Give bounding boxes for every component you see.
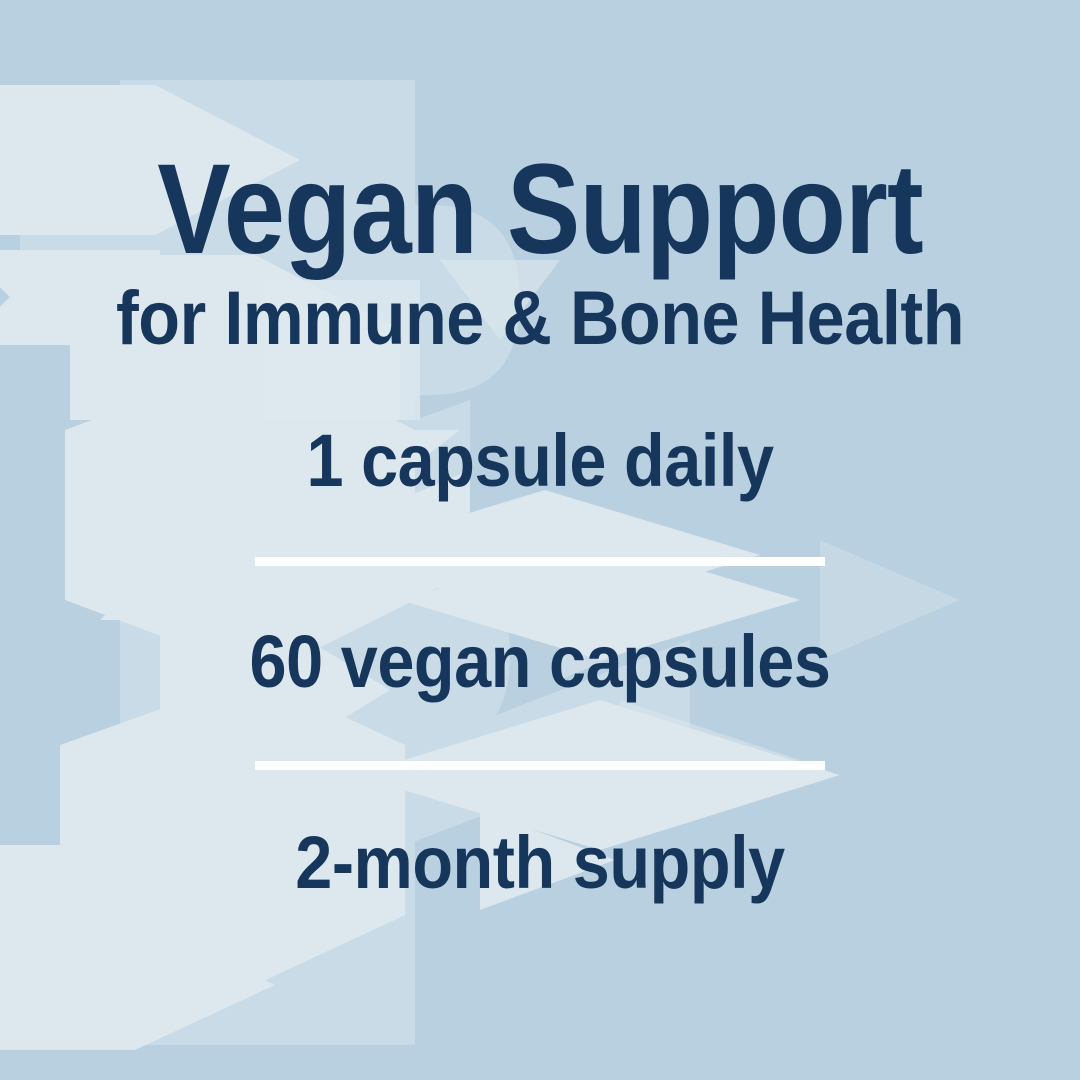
fact-count: 60 vegan capsules xyxy=(54,625,1026,699)
page-title: Vegan Support xyxy=(76,146,1005,274)
fact-dosage: 1 capsule daily xyxy=(54,424,1026,498)
callout-content: Vegan Support for Immune & Bone Health 1… xyxy=(0,0,1080,1080)
product-callout-card: Vegan Support for Immune & Bone Health 1… xyxy=(0,0,1080,1080)
divider-after-fact-2 xyxy=(255,761,825,770)
divider-after-fact-1 xyxy=(255,557,825,566)
fact-supply-duration: 2-month supply xyxy=(54,826,1026,900)
page-subtitle: for Immune & Bone Health xyxy=(54,281,1026,357)
